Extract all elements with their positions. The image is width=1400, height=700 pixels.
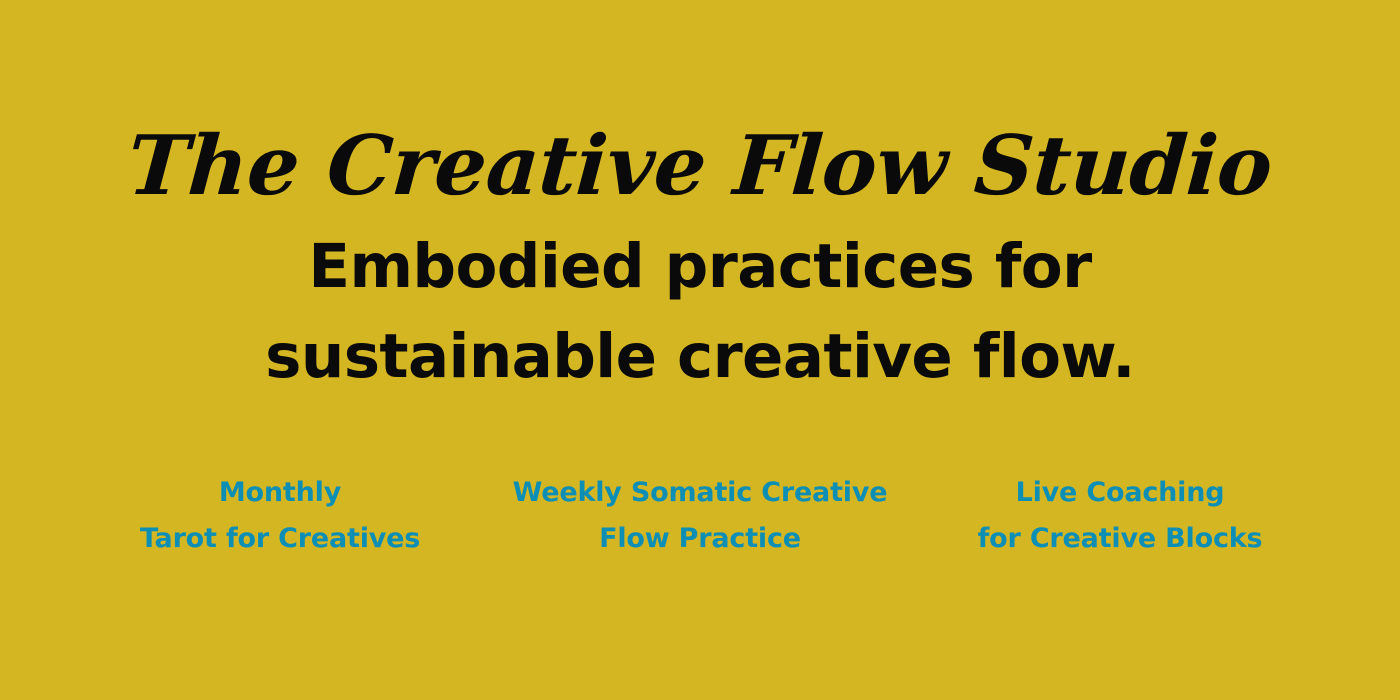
offering-line-1: Weekly Somatic Creative: [496, 470, 904, 516]
offerings-row: Monthly Tarot for Creatives Weekly Somat…: [70, 470, 1330, 562]
offering-line-2: Tarot for Creatives: [76, 516, 484, 562]
offering-item-somatic-flow: Weekly Somatic Creative Flow Practice: [490, 470, 910, 562]
offering-line-1: Monthly: [76, 470, 484, 516]
tagline-line-2: sustainable creative flow.: [0, 312, 1400, 402]
hero-banner: The Creative Flow Studio Embodied practi…: [0, 0, 1400, 700]
tagline-container: Embodied practices for sustainable creat…: [0, 222, 1400, 402]
page-title: The Creative Flow Studio: [125, 125, 1274, 207]
offering-item-tarot: Monthly Tarot for Creatives: [70, 470, 490, 562]
offering-line-2: Flow Practice: [496, 516, 904, 562]
offering-item-live-coaching: Live Coaching for Creative Blocks: [910, 470, 1330, 562]
offering-line-1: Live Coaching: [916, 470, 1324, 516]
offering-line-2: for Creative Blocks: [916, 516, 1324, 562]
tagline-line-1: Embodied practices for: [0, 222, 1400, 312]
